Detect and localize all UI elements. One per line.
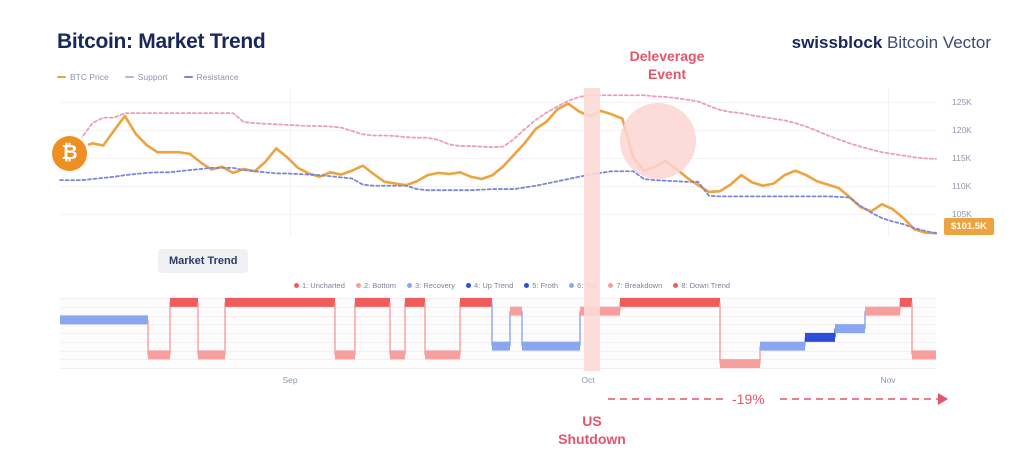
page-title: Bitcoin: Market Trend — [57, 30, 265, 54]
price-chart-panel — [60, 88, 936, 236]
price-legend-label: BTC Price — [70, 72, 109, 82]
us-shutdown-label: US Shutdown — [537, 412, 647, 448]
legend-dot-icon — [608, 283, 613, 288]
gridline — [60, 368, 936, 369]
deleverage-label-line2: Event — [612, 66, 722, 84]
legend-dot-icon — [466, 283, 471, 288]
price-legend-item-resistance[interactable]: Resistance — [184, 72, 239, 82]
y-axis-tick: 120K — [952, 125, 972, 135]
y-axis-tick: 125K — [952, 97, 972, 107]
x-axis-tick: Nov — [880, 375, 895, 385]
trend-legend: 1: Uncharted2: Bottom3: Recovery4: Up Tr… — [0, 281, 1024, 290]
trend-legend-item-3[interactable]: 3: Recovery — [407, 281, 455, 290]
brand-name: swissblock — [792, 33, 883, 52]
deleverage-event-label: Deleverage Event — [612, 48, 722, 83]
price-legend-label: Resistance — [197, 72, 239, 82]
price-legend-item-btc-price[interactable]: BTC Price — [57, 72, 109, 82]
trend-legend-label: 4: Up Trend — [474, 281, 513, 290]
legend-dot-icon — [356, 283, 361, 288]
price-legend-label: Support — [138, 72, 168, 82]
legend-dash-icon — [57, 76, 66, 78]
trend-legend-label: 1: Uncharted — [302, 281, 345, 290]
market-trend-panel — [60, 298, 936, 368]
brand-product: Bitcoin Vector — [882, 33, 991, 52]
x-axis-tick: Sep — [282, 375, 297, 385]
trend-legend-item-5[interactable]: 5: Froth — [524, 281, 558, 290]
price-legend: BTC PriceSupportResistance — [57, 72, 239, 82]
bitcoin-logo-icon: ₿ — [52, 136, 87, 171]
drawdown-arrow-icon — [608, 388, 948, 410]
series-line-resistance — [60, 95, 936, 159]
legend-dash-icon — [184, 76, 193, 78]
trend-legend-label: 5: Froth — [532, 281, 558, 290]
series-line-support — [60, 168, 936, 233]
drawdown-value: -19% — [728, 388, 769, 410]
legend-dot-icon — [524, 283, 529, 288]
trend-legend-item-4[interactable]: 4: Up Trend — [466, 281, 513, 290]
current-price-badge: $101.5K — [944, 218, 994, 235]
y-axis-tick: 115K — [952, 153, 971, 163]
trend-legend-item-2[interactable]: 2: Bottom — [356, 281, 396, 290]
trend-series-svg — [60, 298, 936, 368]
bitcoin-market-trend-chart: Bitcoin: Market Trend swissblock Bitcoin… — [0, 0, 1024, 472]
series-line-btc-price — [60, 104, 936, 234]
deleverage-label-line1: Deleverage — [612, 48, 722, 66]
brand-logo: swissblock Bitcoin Vector — [792, 33, 991, 53]
y-axis-tick: 110K — [952, 181, 971, 191]
x-axis-tick: Oct — [581, 375, 594, 385]
shutdown-label-line1: US — [537, 412, 647, 430]
trend-legend-label: 2: Bottom — [364, 281, 396, 290]
legend-dot-icon — [569, 283, 574, 288]
legend-dash-icon — [125, 76, 134, 78]
legend-dot-icon — [407, 283, 412, 288]
market-trend-chip: Market Trend — [158, 249, 248, 273]
drawdown-annotation: -19% — [608, 388, 948, 410]
trend-legend-item-8[interactable]: 8: Down Trend — [673, 281, 730, 290]
price-legend-item-support[interactable]: Support — [125, 72, 168, 82]
us-shutdown-band — [584, 88, 600, 371]
trend-legend-label: 3: Recovery — [415, 281, 455, 290]
legend-dot-icon — [294, 283, 299, 288]
shutdown-label-line2: Shutdown — [537, 430, 647, 448]
price-series-svg — [60, 88, 936, 236]
legend-dot-icon — [673, 283, 678, 288]
trend-legend-label: 7: Breakdown — [616, 281, 662, 290]
trend-legend-label: 8: Down Trend — [681, 281, 730, 290]
trend-legend-item-1[interactable]: 1: Uncharted — [294, 281, 345, 290]
trend-legend-item-7[interactable]: 7: Breakdown — [608, 281, 662, 290]
y-axis: 125K120K115K110K105K — [944, 88, 1014, 236]
